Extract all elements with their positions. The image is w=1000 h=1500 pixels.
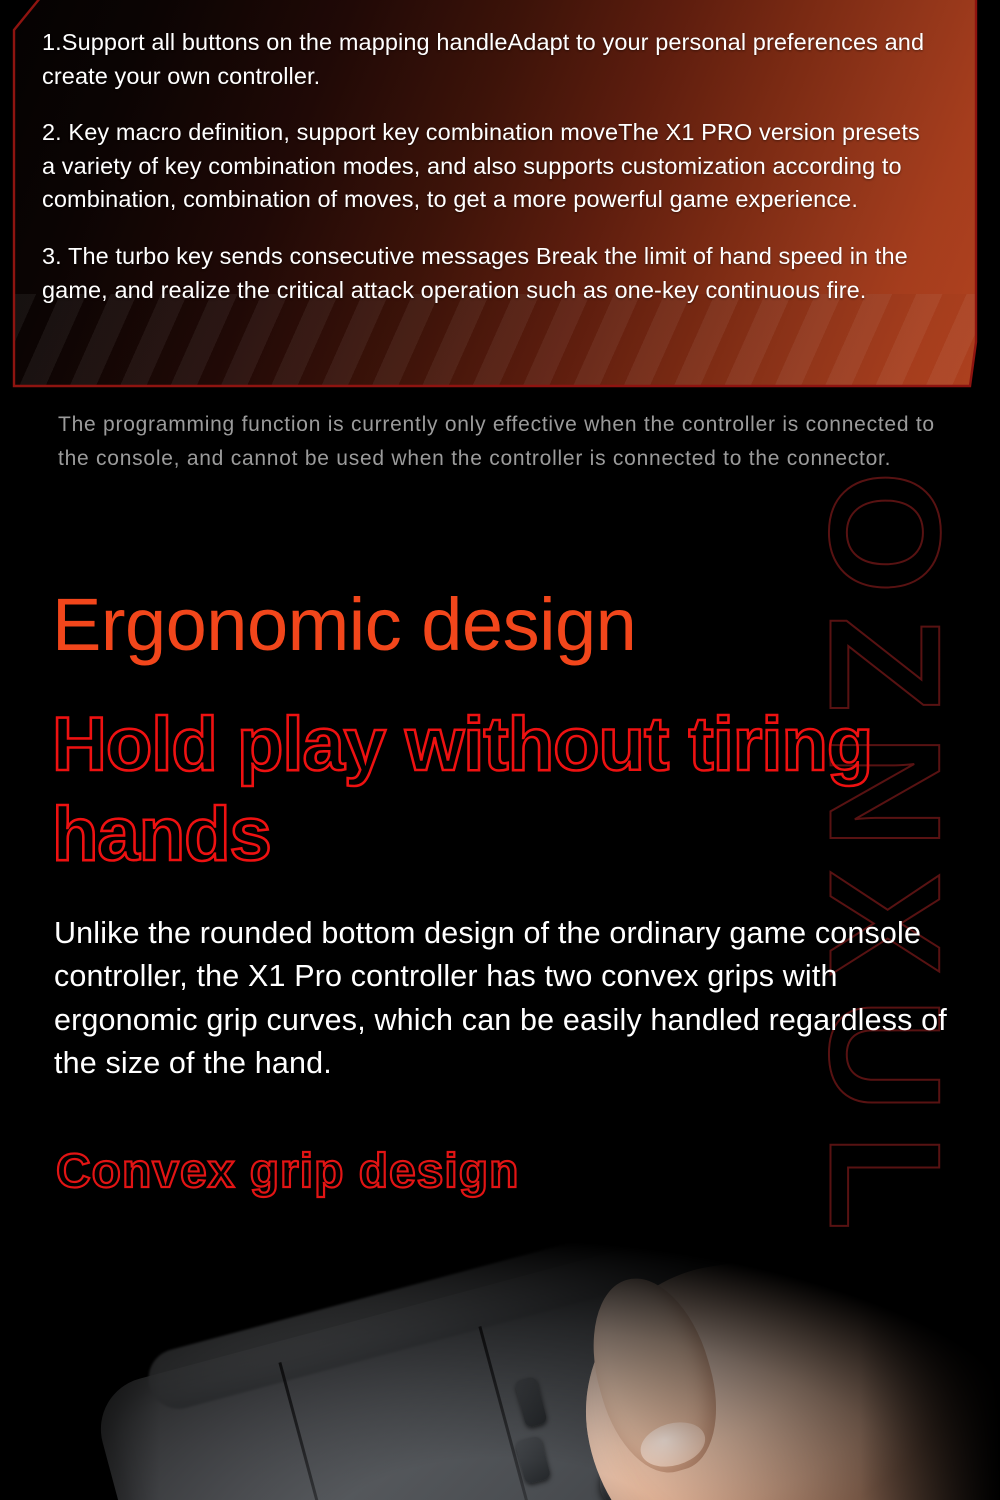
- feature-item-3: 3. The turbo key sends consecutive messa…: [42, 240, 932, 307]
- feature-item-1: 1.Support all buttons on the mapping han…: [42, 26, 932, 93]
- section-subheading-outline: Hold play without tiring hands: [52, 700, 972, 879]
- programming-disclaimer: The programming function is currently on…: [58, 408, 948, 476]
- product-photo-controller-in-hand: [0, 1240, 1000, 1500]
- section-caption-convex-grip-design: Convex grip design: [56, 1148, 519, 1196]
- section-heading-ergonomic-design: Ergonomic design: [52, 588, 636, 662]
- section-body-copy: Unlike the rounded bottom design of the …: [54, 912, 952, 1085]
- product-page: OZNXULA 1.Support all buttons on the map…: [0, 0, 1000, 1500]
- feature-item-2: 2. Key macro definition, support key com…: [42, 116, 932, 217]
- feature-list: 1.Support all buttons on the mapping han…: [0, 0, 962, 410]
